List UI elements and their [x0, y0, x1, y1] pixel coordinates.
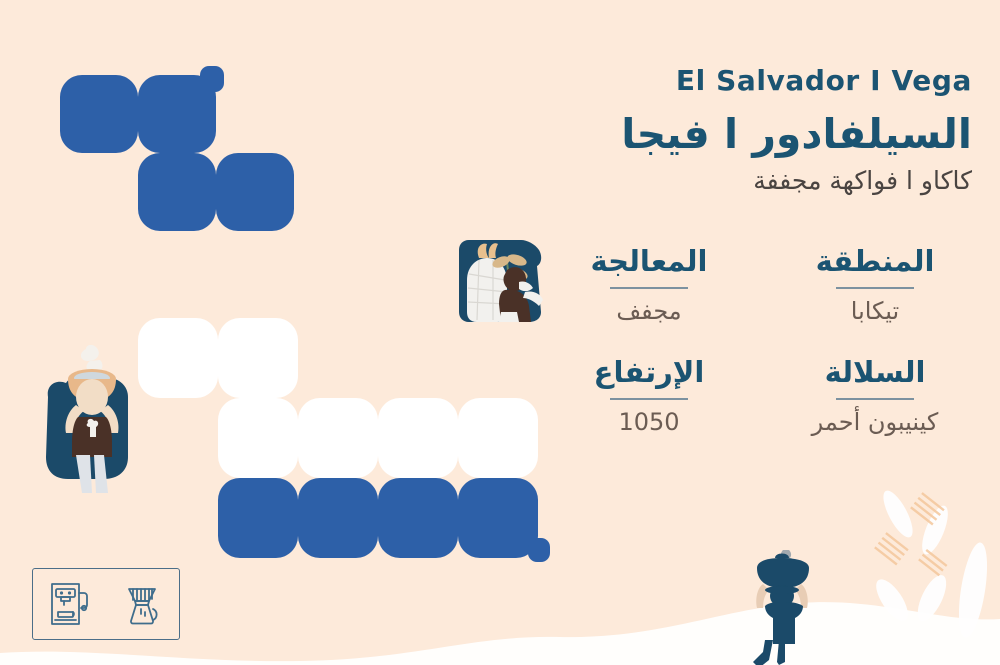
spec-variety: السلالة كينيبون أحمر — [778, 356, 972, 437]
leaf-decoration — [840, 490, 1000, 665]
spec-divider — [836, 287, 914, 289]
spec-divider — [610, 398, 688, 400]
spec-label: المعالجة — [552, 245, 746, 278]
arabic-title: السيلفادور ا فيجا — [552, 111, 972, 158]
coffee-card: El Salvador I Vega السيلفادور ا فيجا كاك… — [0, 0, 1000, 665]
espresso-machine-icon[interactable] — [48, 581, 92, 627]
spec-value: مجفف — [552, 297, 746, 326]
latin-title: El Salvador I Vega — [552, 66, 972, 97]
block — [298, 478, 378, 558]
coffee-sack-carrier-icon — [455, 234, 547, 326]
block — [216, 153, 294, 231]
header-block: El Salvador I Vega السيلفادور ا فيجا كاك… — [552, 66, 972, 196]
block — [218, 318, 298, 398]
spec-label: الإرتفاع — [552, 356, 746, 389]
harvest-walker-illustration — [735, 548, 835, 665]
brew-methods-box — [32, 568, 180, 640]
specs-grid: المنطقة تيكابا المعالجة مجفف السلالة كين… — [552, 245, 972, 437]
block — [458, 398, 538, 478]
block — [298, 398, 378, 478]
spec-divider — [836, 398, 914, 400]
spec-value: 1050 — [552, 408, 746, 437]
block — [218, 478, 298, 558]
spec-value: كينيبون أحمر — [778, 408, 972, 437]
block — [458, 478, 538, 558]
block — [138, 75, 216, 153]
spec-value: تيكابا — [778, 297, 972, 326]
block — [378, 478, 458, 558]
block — [378, 398, 458, 478]
coffee-cup-person-illustration — [30, 335, 150, 495]
block — [218, 398, 298, 478]
spec-processing: المعالجة مجفف — [552, 245, 746, 326]
pour-over-icon[interactable] — [121, 581, 165, 627]
spec-region: المنطقة تيكابا — [778, 245, 972, 326]
spec-label: السلالة — [778, 356, 972, 389]
arabic-subtitle: كاكاو ا فواكهة مجففة — [552, 166, 972, 196]
block — [138, 318, 218, 398]
block — [138, 153, 216, 231]
block — [60, 75, 138, 153]
spec-divider — [610, 287, 688, 289]
spec-label: المنطقة — [778, 245, 972, 278]
spec-altitude: الإرتفاع 1050 — [552, 356, 746, 437]
block-nub-bottom — [528, 538, 550, 562]
